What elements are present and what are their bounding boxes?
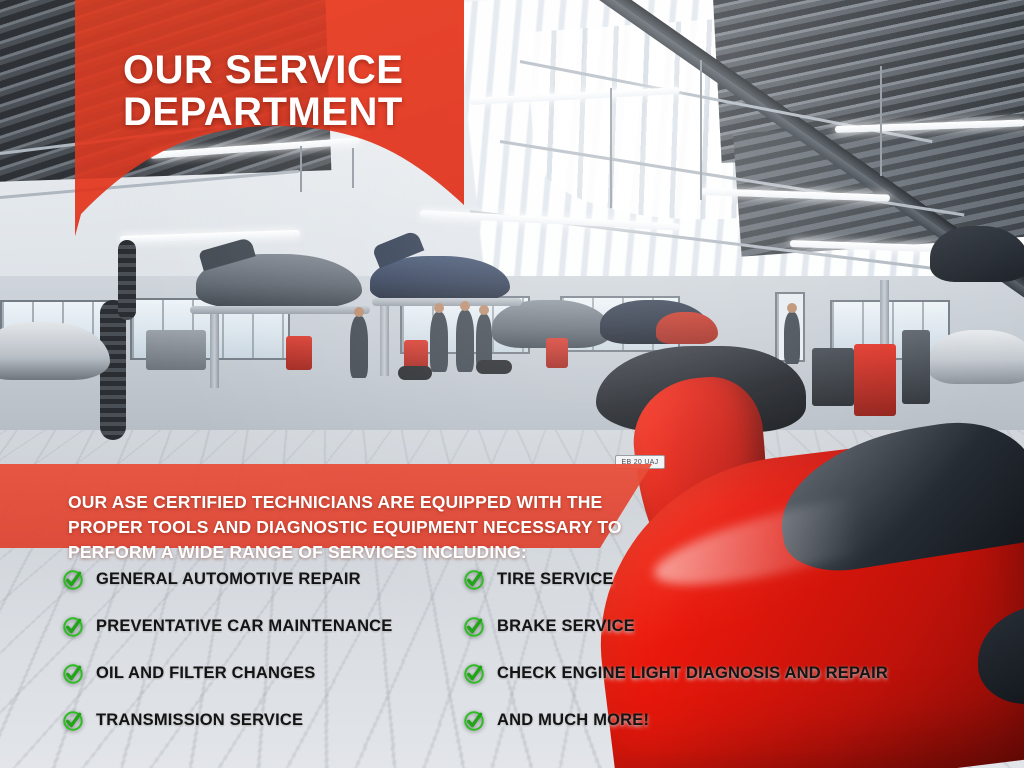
- tire-stack: [476, 360, 512, 374]
- check-circle-icon: [463, 663, 485, 685]
- check-circle-icon: [62, 663, 84, 685]
- service-label: BRAKE SERVICE: [497, 617, 635, 636]
- hanging-rod: [352, 148, 354, 188]
- service-item: TIRE SERVICE: [463, 556, 1024, 603]
- check-circle-icon: [463, 569, 485, 591]
- check-circle-icon: [62, 710, 84, 732]
- intro-paragraph: OUR ASE CERTIFIED TECHNICIANS ARE EQUIPP…: [68, 490, 628, 566]
- equipment-cart: [812, 348, 854, 406]
- service-label: OIL AND FILTER CHANGES: [96, 664, 316, 683]
- vehicle-lift-post: [380, 300, 389, 376]
- check-circle-icon: [463, 710, 485, 732]
- tire-stack: [398, 366, 432, 380]
- page-title: OUR SERVICE DEPARTMENT: [75, 49, 464, 134]
- check-circle-icon: [463, 616, 485, 638]
- vehicle-lift-arm: [190, 306, 370, 314]
- service-label: CHECK ENGINE LIGHT DIAGNOSIS AND REPAIR: [497, 664, 888, 683]
- technician-head: [434, 303, 444, 313]
- hanging-rod: [880, 66, 882, 176]
- tool-cabinet-red: [286, 336, 312, 370]
- services-checklist: GENERAL AUTOMOTIVE REPAIR PREVENTATIVE C…: [0, 556, 1024, 746]
- page-title-line1: OUR SERVICE: [123, 49, 446, 91]
- service-label: TIRE SERVICE: [497, 570, 614, 589]
- services-left-column: GENERAL AUTOMOTIVE REPAIR PREVENTATIVE C…: [0, 556, 405, 746]
- tool-cabinet-red-foreground: [854, 344, 896, 416]
- page-title-line2: DEPARTMENT: [123, 91, 446, 133]
- tool-cabinet-red: [546, 338, 568, 368]
- service-item: AND MUCH MORE!: [463, 697, 1024, 744]
- service-label: GENERAL AUTOMOTIVE REPAIR: [96, 570, 361, 589]
- technician: [784, 312, 800, 364]
- technician-head: [460, 301, 470, 311]
- services-right-column: TIRE SERVICE BRAKE SERVICE CHECK ENGINE …: [405, 556, 1024, 746]
- service-item: CHECK ENGINE LIGHT DIAGNOSIS AND REPAIR: [463, 650, 1024, 697]
- check-circle-icon: [62, 569, 84, 591]
- service-label: AND MUCH MORE!: [497, 711, 649, 730]
- technician-head: [787, 303, 797, 313]
- technician: [430, 312, 448, 372]
- service-item: GENERAL AUTOMOTIVE REPAIR: [62, 556, 405, 603]
- technician: [350, 316, 368, 378]
- service-item: OIL AND FILTER CHANGES: [62, 650, 405, 697]
- vehicle-lift-arm: [372, 298, 522, 306]
- technician: [456, 310, 474, 372]
- service-department-poster: EB 20 UAJ: [0, 0, 1024, 768]
- service-item: PREVENTATIVE CAR MAINTENANCE: [62, 603, 405, 650]
- exhaust-extraction-hose: [118, 240, 136, 320]
- service-item: TRANSMISSION SERVICE: [62, 697, 405, 744]
- service-label: TRANSMISSION SERVICE: [96, 711, 303, 730]
- technician-head: [479, 305, 489, 315]
- vehicle-lift-post: [210, 308, 219, 388]
- service-label: PREVENTATIVE CAR MAINTENANCE: [96, 617, 393, 636]
- service-item: BRAKE SERVICE: [463, 603, 1024, 650]
- equipment-cart: [902, 330, 930, 404]
- hanging-rod: [700, 60, 702, 200]
- check-circle-icon: [62, 616, 84, 638]
- vehicle-dark-suv-raised: [930, 226, 1024, 282]
- vehicle-silver-sportscar-right: [928, 330, 1024, 384]
- tool-cabinet: [146, 330, 206, 370]
- technician-head: [354, 307, 364, 317]
- hanging-rod: [300, 146, 302, 192]
- hanging-rod: [610, 88, 612, 208]
